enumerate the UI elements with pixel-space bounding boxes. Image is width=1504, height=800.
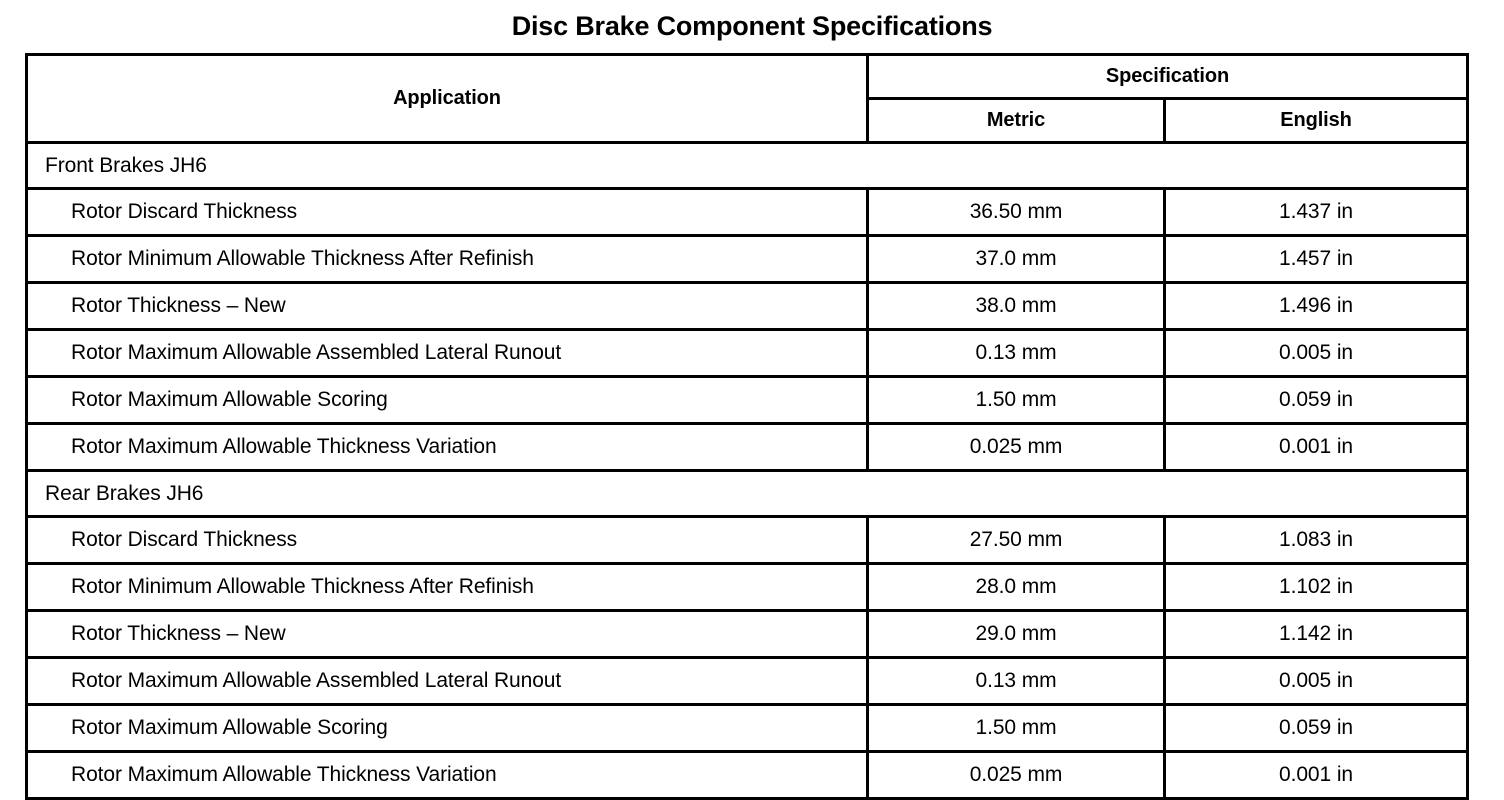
row-english-value: 1.457 in (1165, 236, 1468, 283)
row-application-label: Rotor Maximum Allowable Thickness Variat… (27, 424, 868, 471)
table-row: Rotor Discard Thickness27.50 mm1.083 in (27, 517, 1468, 564)
row-metric-value: 27.50 mm (868, 517, 1165, 564)
column-header-metric: Metric (868, 99, 1165, 143)
column-header-specification: Specification (868, 55, 1468, 99)
table-row: Rotor Maximum Allowable Thickness Variat… (27, 424, 1468, 471)
table-row: Rotor Maximum Allowable Assembled Latera… (27, 658, 1468, 705)
row-english-value: 0.001 in (1165, 752, 1468, 799)
row-metric-value: 28.0 mm (868, 564, 1165, 611)
table-row: Rotor Discard Thickness36.50 mm1.437 in (27, 189, 1468, 236)
row-application-label: Rotor Maximum Allowable Assembled Latera… (27, 658, 868, 705)
row-english-value: 1.142 in (1165, 611, 1468, 658)
row-application-label: Rotor Maximum Allowable Thickness Variat… (27, 752, 868, 799)
row-metric-value: 0.13 mm (868, 658, 1165, 705)
row-metric-value: 0.025 mm (868, 424, 1165, 471)
table-row: Rotor Thickness – New29.0 mm1.142 in (27, 611, 1468, 658)
table-row: Rotor Maximum Allowable Scoring1.50 mm0.… (27, 705, 1468, 752)
table-header-row-top: Application Specification (27, 55, 1468, 99)
row-metric-value: 38.0 mm (868, 283, 1165, 330)
table-row: Rotor Maximum Allowable Assembled Latera… (27, 330, 1468, 377)
row-application-label: Rotor Discard Thickness (27, 517, 868, 564)
row-application-label: Rotor Minimum Allowable Thickness After … (27, 564, 868, 611)
page-title: Disc Brake Component Specifications (0, 10, 1504, 42)
table-body: Front Brakes JH6Rotor Discard Thickness3… (27, 143, 1468, 799)
row-application-label: Rotor Maximum Allowable Scoring (27, 705, 868, 752)
specifications-table: Application Specification Metric English… (25, 53, 1469, 800)
row-metric-value: 1.50 mm (868, 377, 1165, 424)
row-metric-value: 1.50 mm (868, 705, 1165, 752)
specifications-table-container: Application Specification Metric English… (25, 53, 1466, 800)
section-header-label: Rear Brakes JH6 (27, 471, 1468, 517)
row-application-label: Rotor Discard Thickness (27, 189, 868, 236)
row-application-label: Rotor Minimum Allowable Thickness After … (27, 236, 868, 283)
column-header-application: Application (27, 55, 868, 143)
table-row: Rotor Minimum Allowable Thickness After … (27, 236, 1468, 283)
row-english-value: 1.102 in (1165, 564, 1468, 611)
document-page: Disc Brake Component Specifications Appl… (0, 0, 1504, 768)
row-application-label: Rotor Maximum Allowable Scoring (27, 377, 868, 424)
table-row: Rotor Minimum Allowable Thickness After … (27, 564, 1468, 611)
row-application-label: Rotor Maximum Allowable Assembled Latera… (27, 330, 868, 377)
table-row: Rotor Maximum Allowable Scoring1.50 mm0.… (27, 377, 1468, 424)
table-header: Application Specification Metric English (27, 55, 1468, 143)
row-application-label: Rotor Thickness – New (27, 611, 868, 658)
section-header-row: Front Brakes JH6 (27, 143, 1468, 189)
row-metric-value: 0.025 mm (868, 752, 1165, 799)
row-metric-value: 0.13 mm (868, 330, 1165, 377)
row-metric-value: 29.0 mm (868, 611, 1165, 658)
row-metric-value: 37.0 mm (868, 236, 1165, 283)
section-header-row: Rear Brakes JH6 (27, 471, 1468, 517)
section-header-label: Front Brakes JH6 (27, 143, 1468, 189)
column-header-english: English (1165, 99, 1468, 143)
row-english-value: 0.059 in (1165, 705, 1468, 752)
row-english-value: 0.001 in (1165, 424, 1468, 471)
row-metric-value: 36.50 mm (868, 189, 1165, 236)
table-row: Rotor Thickness – New38.0 mm1.496 in (27, 283, 1468, 330)
row-english-value: 0.005 in (1165, 330, 1468, 377)
row-english-value: 1.496 in (1165, 283, 1468, 330)
row-english-value: 0.059 in (1165, 377, 1468, 424)
table-row: Rotor Maximum Allowable Thickness Variat… (27, 752, 1468, 799)
row-application-label: Rotor Thickness – New (27, 283, 868, 330)
row-english-value: 1.437 in (1165, 189, 1468, 236)
row-english-value: 1.083 in (1165, 517, 1468, 564)
row-english-value: 0.005 in (1165, 658, 1468, 705)
